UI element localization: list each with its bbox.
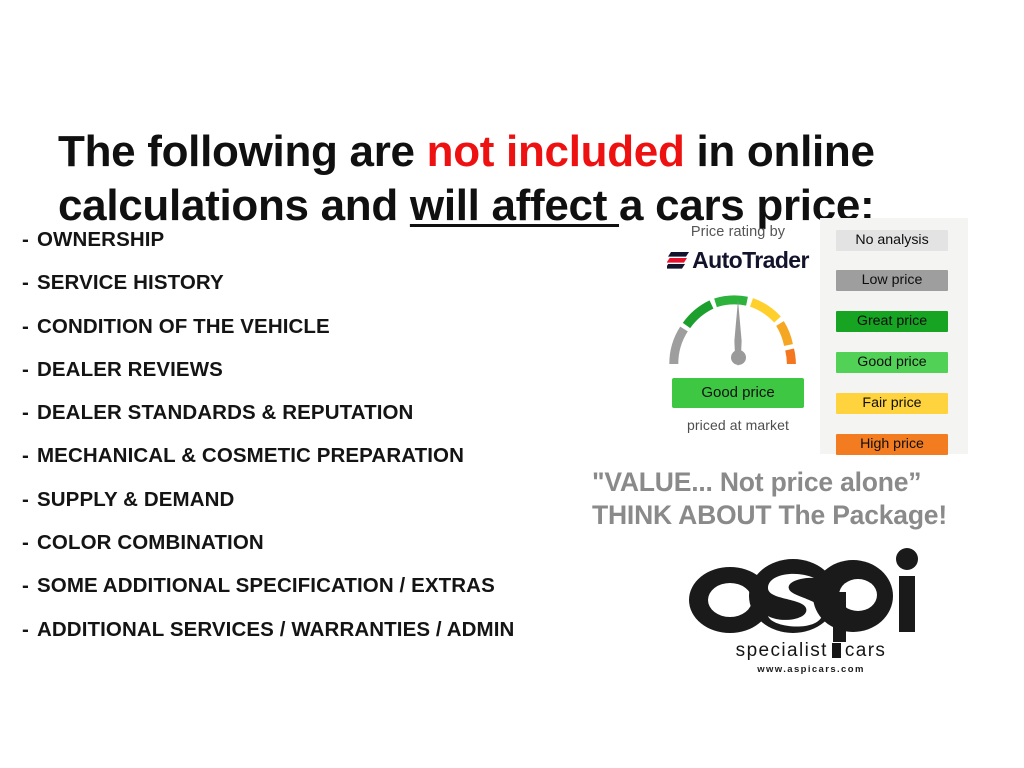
list-item-label: DEALER REVIEWS bbox=[37, 358, 223, 382]
tagline-line-1: "VALUE... Not price alone” bbox=[592, 466, 1022, 499]
dash-icon: - bbox=[22, 315, 37, 339]
legend-item-great-price: Great price bbox=[836, 311, 948, 332]
page-title: The following are not included in online… bbox=[58, 125, 968, 232]
title-underline-will-affect: will affect bbox=[410, 181, 619, 230]
legend-item-high-price: High price bbox=[836, 434, 948, 455]
list-item-label: MECHANICAL & COSMETIC PREPARATION bbox=[37, 444, 464, 468]
dash-icon: - bbox=[22, 271, 37, 295]
legend-item-good-price: Good price bbox=[836, 352, 948, 373]
list-item-label: CONDITION OF THE VEHICLE bbox=[37, 315, 330, 339]
aspi-subtitle-right: cars bbox=[845, 640, 887, 661]
price-rating-widget: Price rating by AutoTrader bbox=[652, 218, 968, 454]
list-item-label: SUPPLY & DEMAND bbox=[37, 488, 234, 512]
list-item-label: ADDITIONAL SERVICES / WARRANTIES / ADMIN bbox=[37, 618, 514, 642]
list-item: - CONDITION OF THE VEHICLE bbox=[22, 315, 632, 358]
dash-icon: - bbox=[22, 618, 37, 642]
factors-list: - OWNERSHIP - SERVICE HISTORY - CONDITIO… bbox=[22, 228, 632, 661]
aspi-logo-subtitle: specialistcars www.aspicars.com bbox=[686, 640, 936, 675]
tagline: "VALUE... Not price alone” THINK ABOUT T… bbox=[592, 466, 1022, 532]
list-item: - MECHANICAL & COSMETIC PREPARATION bbox=[22, 444, 632, 487]
legend-item-low-price: Low price bbox=[836, 270, 948, 291]
list-item: - DEALER STANDARDS & REPUTATION bbox=[22, 401, 632, 444]
legend-item-fair-price: Fair price bbox=[836, 393, 948, 414]
aspi-wordmark-icon bbox=[686, 548, 936, 644]
autotrader-logo: AutoTrader bbox=[652, 247, 824, 274]
list-item-label: COLOR COMBINATION bbox=[37, 531, 264, 555]
autotrader-wordmark: AutoTrader bbox=[692, 247, 809, 274]
aspi-website-url: www.aspicars.com bbox=[686, 664, 936, 675]
title-highlight-not-included: not included bbox=[427, 127, 685, 176]
autotrader-mark-icon bbox=[667, 252, 689, 269]
gauge-needle-hub bbox=[731, 350, 746, 365]
separator-block-icon bbox=[832, 643, 841, 658]
dash-icon: - bbox=[22, 358, 37, 382]
list-item: - OWNERSHIP bbox=[22, 228, 632, 271]
price-rating-footnote: priced at market bbox=[652, 417, 824, 433]
list-item: - DEALER REVIEWS bbox=[22, 358, 632, 401]
aspi-subtitle-left: specialist bbox=[736, 640, 828, 661]
dash-icon: - bbox=[22, 488, 37, 512]
list-item: - SERVICE HISTORY bbox=[22, 271, 632, 314]
aspi-subtitle-row: specialistcars bbox=[686, 640, 936, 662]
tagline-line-2: THINK ABOUT The Package! bbox=[592, 499, 1022, 532]
list-item-label: SERVICE HISTORY bbox=[37, 271, 224, 295]
dash-icon: - bbox=[22, 574, 37, 598]
list-item: - ADDITIONAL SERVICES / WARRANTIES / ADM… bbox=[22, 618, 632, 661]
dash-icon: - bbox=[22, 228, 37, 252]
price-rating-result-badge: Good price bbox=[672, 378, 804, 408]
dash-icon: - bbox=[22, 401, 37, 425]
list-item: - COLOR COMBINATION bbox=[22, 531, 632, 574]
list-item-label: DEALER STANDARDS & REPUTATION bbox=[37, 401, 413, 425]
list-item-label: OWNERSHIP bbox=[37, 228, 164, 252]
slide-canvas: The following are not included in online… bbox=[0, 0, 1024, 768]
list-item: - SUPPLY & DEMAND bbox=[22, 488, 632, 531]
title-line2-before: calculations and bbox=[58, 181, 410, 230]
legend-item-no-analysis: No analysis bbox=[836, 230, 948, 251]
dash-icon: - bbox=[22, 531, 37, 555]
list-item-label: SOME ADDITIONAL SPECIFICATION / EXTRAS bbox=[37, 574, 495, 598]
aspi-logo: specialistcars www.aspicars.com bbox=[686, 548, 936, 678]
price-rating-caption: Price rating by bbox=[652, 224, 824, 240]
title-text-before: The following are bbox=[58, 127, 427, 176]
list-item: - SOME ADDITIONAL SPECIFICATION / EXTRAS bbox=[22, 574, 632, 617]
title-line-1: The following are not included in online bbox=[58, 127, 875, 176]
title-text-after: in online bbox=[685, 127, 875, 176]
price-rating-legend: No analysis Low price Great price Good p… bbox=[820, 218, 968, 454]
price-gauge bbox=[665, 286, 811, 370]
dash-icon: - bbox=[22, 444, 37, 468]
price-rating-gauge-panel: Price rating by AutoTrader bbox=[652, 218, 824, 433]
